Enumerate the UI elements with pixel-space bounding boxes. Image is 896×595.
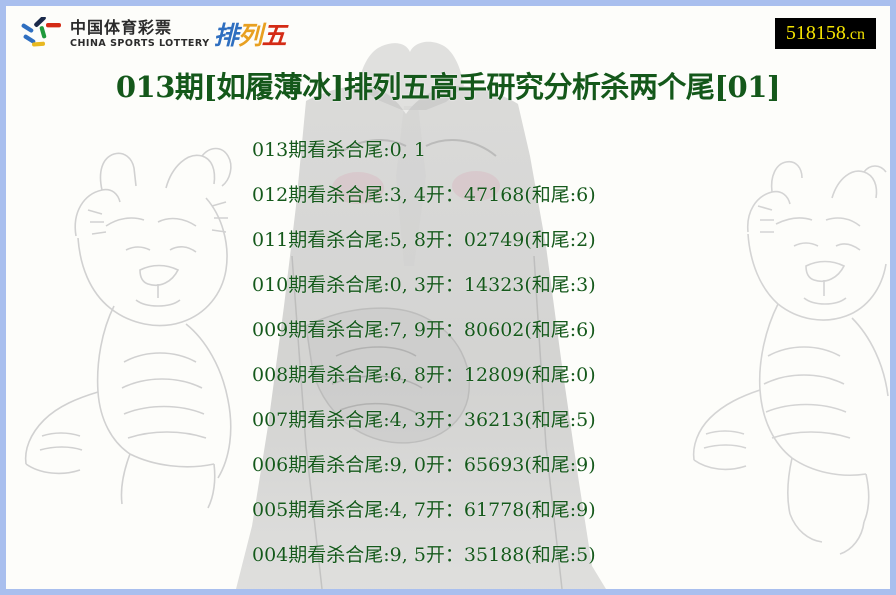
brand-block: 中国体育彩票 CHINA SPORTS LOTTERY — [70, 20, 210, 49]
prediction-row: 011期看杀合尾:5, 8开：02749(和尾:2) — [252, 218, 890, 263]
site-watermark-badge: 518158.cn — [775, 18, 876, 49]
prediction-row: 012期看杀合尾:3, 4开：47168(和尾:6) — [252, 173, 890, 218]
game-char-3: 五 — [262, 21, 286, 50]
prediction-row: 008期看杀合尾:6, 8开：12809(和尾:0) — [252, 353, 890, 398]
prediction-row: 007期看杀合尾:4, 3开：36213(和尾:5) — [252, 398, 890, 443]
prediction-row: 004期看杀合尾:9, 5开：35188(和尾:5) — [252, 533, 890, 578]
brand-name-cn: 中国体育彩票 — [70, 20, 210, 36]
game-char-1: 排 — [214, 21, 238, 50]
prediction-row: 010期看杀合尾:0, 3开：14323(和尾:3) — [252, 263, 890, 308]
prediction-row: 009期看杀合尾:7, 9开：80602(和尾:6) — [252, 308, 890, 353]
brand-name-en: CHINA SPORTS LOTTERY — [70, 39, 210, 49]
game-char-2: 列 — [238, 21, 262, 50]
prediction-row: 005期看杀合尾:4, 7开：61778(和尾:9) — [252, 488, 890, 533]
prediction-list: 013期看杀合尾:0, 1 012期看杀合尾:3, 4开：47168(和尾:6)… — [6, 128, 890, 578]
prediction-row: 013期看杀合尾:0, 1 — [252, 128, 890, 173]
china-sports-lottery-emblem-icon — [20, 17, 64, 51]
page-root: 中国体育彩票 CHINA SPORTS LOTTERY 排列五 518158.c… — [0, 0, 896, 595]
page-title: 013期[如履薄冰]排列五高手研究分析杀两个尾[01] — [6, 64, 890, 106]
site-header: 中国体育彩票 CHINA SPORTS LOTTERY 排列五 518158.c… — [6, 6, 890, 58]
game-name-pailiewu: 排列五 — [214, 23, 286, 48]
prediction-row: 006期看杀合尾:9, 0开：65693(和尾:9) — [252, 443, 890, 488]
site-domain-name: 518158 — [786, 22, 846, 44]
site-domain-tld: .cn — [846, 26, 865, 43]
